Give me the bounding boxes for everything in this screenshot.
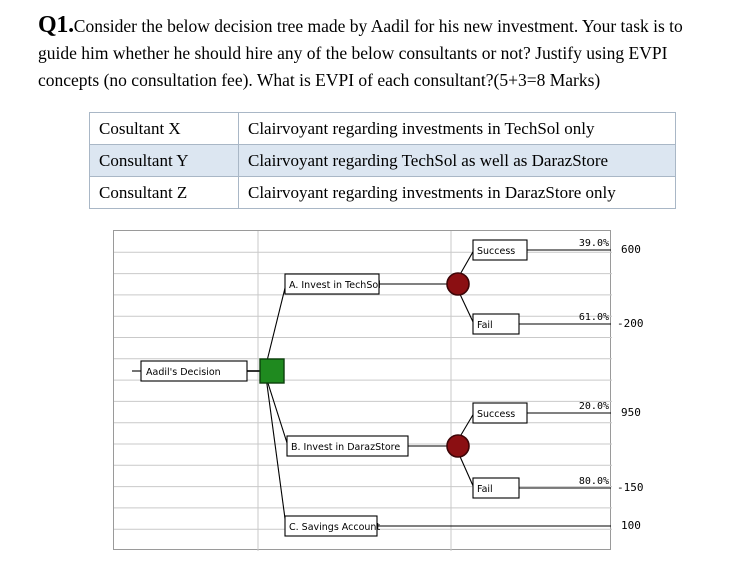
table-row: Consultant Z Clairvoyant regarding inves… bbox=[90, 177, 676, 209]
payoff-b-fail: -150 bbox=[617, 481, 644, 494]
consultant-name: Cosultant X bbox=[90, 113, 239, 145]
branch-b-label[interactable]: B. Invest in DarazStore bbox=[287, 436, 408, 456]
probability-b-fail: 80.0% bbox=[579, 476, 609, 487]
consultant-table-body: Cosultant X Clairvoyant regarding invest… bbox=[90, 113, 676, 209]
decision-tree-panel: Aadil's Decision A. Invest in TechSol B.… bbox=[113, 230, 611, 550]
outcome-a-fail-label: Fail bbox=[477, 320, 493, 331]
consultant-name: Consultant Y bbox=[90, 145, 239, 177]
question-text: Q1.Consider the below decision tree made… bbox=[38, 12, 723, 94]
consultant-description: Clairvoyant regarding investments in Dar… bbox=[239, 177, 676, 209]
root-node-label-text: Aadil's Decision bbox=[146, 367, 221, 378]
chance-node-b[interactable] bbox=[447, 435, 469, 457]
outcome-a-success-label: Success bbox=[477, 246, 515, 257]
probability-b-success: 20.0% bbox=[579, 401, 609, 412]
branch-a-label[interactable]: A. Invest in TechSol bbox=[285, 274, 381, 294]
outcome-a-success[interactable]: Success bbox=[473, 240, 527, 260]
payoff-values: 600 -200 950 -150 100 bbox=[615, 230, 675, 550]
consultant-table: Cosultant X Clairvoyant regarding invest… bbox=[89, 112, 676, 209]
outcome-a-fail[interactable]: Fail bbox=[473, 314, 519, 334]
outcome-b-success-label: Success bbox=[477, 409, 515, 420]
payoff-b-success: 950 bbox=[621, 406, 641, 419]
branch-c-label-text: C. Savings Account bbox=[289, 522, 380, 533]
question-block: Q1.Consider the below decision tree made… bbox=[38, 12, 723, 94]
consultant-description: Clairvoyant regarding TechSol as well as… bbox=[239, 145, 676, 177]
decision-tree-graphic: Aadil's Decision A. Invest in TechSol B.… bbox=[114, 231, 612, 551]
outcome-b-fail-label: Fail bbox=[477, 484, 493, 495]
table-row: Cosultant X Clairvoyant regarding invest… bbox=[90, 113, 676, 145]
branch-a-label-text: A. Invest in TechSol bbox=[289, 280, 381, 291]
question-marks: (5+3=8 Marks) bbox=[494, 70, 601, 90]
outcome-b-success[interactable]: Success bbox=[473, 403, 527, 423]
branch-c-label[interactable]: C. Savings Account bbox=[285, 516, 380, 536]
consultant-description: Clairvoyant regarding investments in Tec… bbox=[239, 113, 676, 145]
chance-node-a[interactable] bbox=[447, 273, 469, 295]
payoff-a-fail: -200 bbox=[617, 317, 644, 330]
payoff-a-success: 600 bbox=[621, 243, 641, 256]
probability-a-success: 39.0% bbox=[579, 238, 609, 249]
outcome-b-fail[interactable]: Fail bbox=[473, 478, 519, 498]
consultant-name: Consultant Z bbox=[90, 177, 239, 209]
branch-b-label-text: B. Invest in DarazStore bbox=[291, 442, 400, 453]
payoff-c: 100 bbox=[621, 519, 641, 532]
probability-a-fail: 61.0% bbox=[579, 312, 609, 323]
root-node-label[interactable]: Aadil's Decision bbox=[141, 361, 247, 381]
decision-node-square[interactable] bbox=[260, 359, 284, 383]
question-number: Q1. bbox=[38, 12, 74, 38]
table-row: Consultant Y Clairvoyant regarding TechS… bbox=[90, 145, 676, 177]
